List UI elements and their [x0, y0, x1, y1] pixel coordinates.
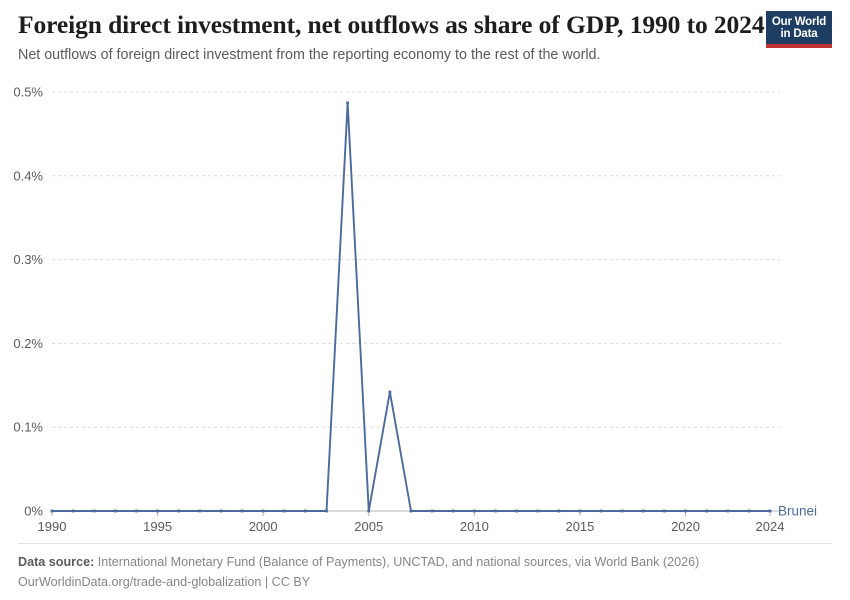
data-point[interactable]: [93, 510, 96, 513]
data-point[interactable]: [72, 510, 75, 513]
line-chart-svg[interactable]: 0%0.1%0.2%0.3%0.4%0.5% 19901995200020052…: [0, 80, 850, 535]
y-tick-label: 0.4%: [13, 168, 43, 183]
data-point[interactable]: [220, 510, 223, 513]
data-point[interactable]: [367, 510, 370, 513]
data-point[interactable]: [304, 510, 307, 513]
x-tick-label: 2005: [354, 519, 383, 534]
data-point[interactable]: [283, 510, 286, 513]
data-point[interactable]: [410, 510, 413, 513]
footer-divider: [18, 543, 832, 544]
data-point[interactable]: [705, 510, 708, 513]
data-point[interactable]: [473, 510, 476, 513]
data-point[interactable]: [431, 510, 434, 513]
y-tick-label: 0.1%: [13, 420, 43, 435]
data-point[interactable]: [663, 510, 666, 513]
series-name-label[interactable]: Brunei: [778, 504, 817, 519]
data-point[interactable]: [621, 510, 624, 513]
data-point[interactable]: [726, 510, 729, 513]
data-point[interactable]: [51, 510, 54, 513]
y-tick-label: 0.5%: [13, 85, 43, 100]
page-title: Foreign direct investment, net outflows …: [18, 10, 832, 40]
x-tick-label: 2024: [756, 519, 785, 534]
logo-line-2: in Data: [781, 28, 818, 41]
data-point[interactable]: [325, 510, 328, 513]
y-tick-label: 0.2%: [13, 336, 43, 351]
y-axis-tick-labels: 0%0.1%0.2%0.3%0.4%0.5%: [13, 85, 43, 519]
x-tick-label: 1990: [38, 519, 67, 534]
our-world-in-data-logo[interactable]: Our World in Data: [766, 11, 832, 48]
data-point[interactable]: [579, 510, 582, 513]
chart-plot-area[interactable]: 0%0.1%0.2%0.3%0.4%0.5% 19901995200020052…: [0, 80, 850, 535]
data-series-brunei[interactable]: [52, 103, 770, 511]
data-source-label: Data source:: [18, 555, 94, 569]
series-line[interactable]: [52, 103, 770, 511]
data-source-line: Data source: International Monetary Fund…: [18, 552, 832, 572]
data-point[interactable]: [536, 510, 539, 513]
chart-subtitle: Net outflows of foreign direct investmen…: [18, 46, 832, 64]
gridlines: [52, 92, 780, 427]
data-point[interactable]: [494, 510, 497, 513]
data-point[interactable]: [557, 510, 560, 513]
y-tick-label: 0.3%: [13, 252, 43, 267]
x-tick-label: 2020: [671, 519, 700, 534]
data-point[interactable]: [177, 510, 180, 513]
data-point[interactable]: [769, 510, 772, 513]
x-tick-label: 1995: [143, 519, 172, 534]
license-line[interactable]: OurWorldinData.org/trade-and-globalizati…: [18, 572, 832, 592]
data-point[interactable]: [135, 510, 138, 513]
data-source-text: International Monetary Fund (Balance of …: [94, 555, 699, 569]
logo-line-1: Our World: [772, 16, 826, 29]
data-point[interactable]: [198, 510, 201, 513]
data-point[interactable]: [684, 510, 687, 513]
data-point[interactable]: [262, 510, 265, 513]
data-point[interactable]: [642, 510, 645, 513]
data-point[interactable]: [156, 510, 159, 513]
series-end-label[interactable]: Brunei: [778, 504, 817, 519]
data-point[interactable]: [346, 101, 349, 104]
data-point[interactable]: [114, 510, 117, 513]
data-point-markers[interactable]: [51, 101, 772, 512]
data-point[interactable]: [600, 510, 603, 513]
chart-footer: Data source: International Monetary Fund…: [18, 543, 832, 592]
data-point[interactable]: [388, 391, 391, 394]
data-point[interactable]: [241, 510, 244, 513]
x-tick-label: 2010: [460, 519, 489, 534]
data-point[interactable]: [452, 510, 455, 513]
data-point[interactable]: [515, 510, 518, 513]
y-tick-label: 0%: [24, 504, 43, 519]
x-tick-label: 2015: [565, 519, 594, 534]
data-point[interactable]: [747, 510, 750, 513]
x-axis-tick-labels: 19901995200020052010201520202024: [38, 519, 785, 534]
chart-header: Foreign direct investment, net outflows …: [18, 10, 832, 70]
x-tick-label: 2000: [249, 519, 278, 534]
